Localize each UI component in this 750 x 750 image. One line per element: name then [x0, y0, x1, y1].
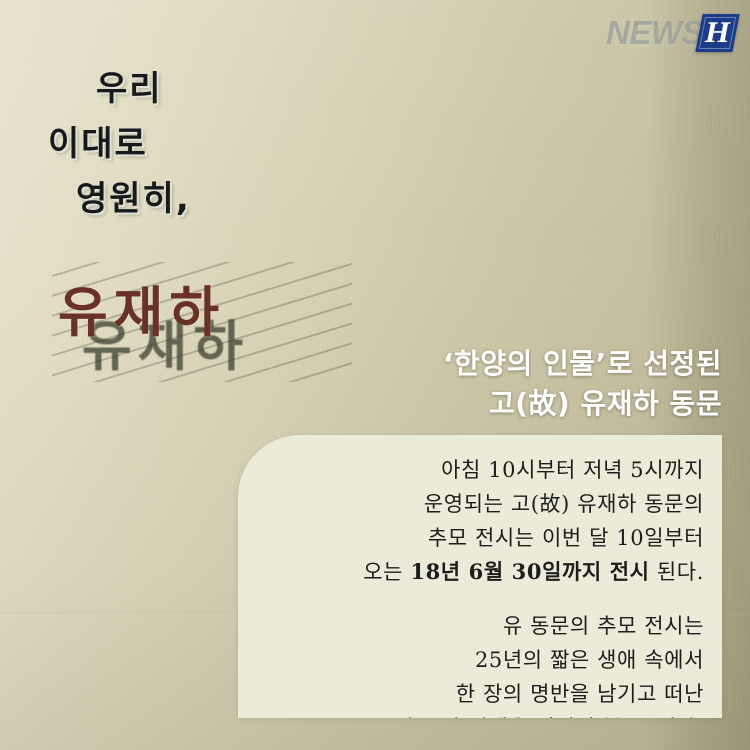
body-line: 아침 10시부터 저녁 5시까지 [264, 453, 704, 487]
body-paragraph-1: 아침 10시부터 저녁 5시까지 운영되는 고(故) 유재하 동문의 추모 전시… [264, 453, 704, 589]
artist-name-sign: 유재하 [58, 268, 225, 347]
wall-slogan-line-2: 이대로 [44, 117, 274, 172]
wall-slogan-line-3: 영원히, [44, 172, 274, 227]
body-line-suffix: 된다. [650, 560, 704, 584]
body-text-panel: 아침 10시부터 저녁 5시까지 운영되는 고(故) 유재하 동문의 추모 전시… [238, 435, 722, 718]
logo-h-badge: H [695, 14, 739, 52]
body-line: 유 동문의 추모 전시는 [264, 609, 704, 643]
body-line: 운영되는 고(故) 유재하 동문의 [264, 487, 704, 521]
body-line: 25년의 짧은 생애 속에서 [264, 643, 704, 677]
body-paragraph-2: 유 동문의 추모 전시는 25년의 짧은 생애 속에서 한 장의 명반을 남기고… [264, 609, 704, 718]
news-h-logo[interactable]: NEWS H [606, 12, 736, 54]
headline-line-2: 고(故) 유재하 동문 [443, 384, 722, 424]
logo-wordmark: NEWS [606, 14, 703, 52]
artist-name-sign-group: 유재하 유재하 [52, 268, 352, 378]
headline-line-1: ‘한양의 인물’로 선정된 [443, 344, 722, 384]
headline: ‘한양의 인물’로 선정된 고(故) 유재하 동문 [443, 344, 722, 424]
wall-slogan-line-1: 우리 [44, 62, 274, 117]
wall-slogan: 우리 이대로 영원히, [44, 62, 274, 227]
body-line-bold: 18년 6월 30일까지 전시 [410, 559, 649, 584]
logo-h-letter: H [703, 18, 732, 48]
body-line: 한 장의 명반을 남기고 떠난 [264, 677, 704, 711]
body-line-prefix: 오는 [363, 560, 410, 584]
body-line: 추모 전시는 이번 달 10일부터 [264, 521, 704, 555]
body-line: 그의 음악 인생을 되짚어 볼 수 있다. [264, 711, 704, 718]
news-card: 우리 이대로 영원히, 유재하 유재하 NEWS H ‘한양의 인물’로 선정된… [0, 0, 750, 750]
body-text: 아침 10시부터 저녁 5시까지 운영되는 고(故) 유재하 동문의 추모 전시… [264, 453, 704, 718]
body-line-emphasis: 오는 18년 6월 30일까지 전시 된다. [264, 555, 704, 589]
